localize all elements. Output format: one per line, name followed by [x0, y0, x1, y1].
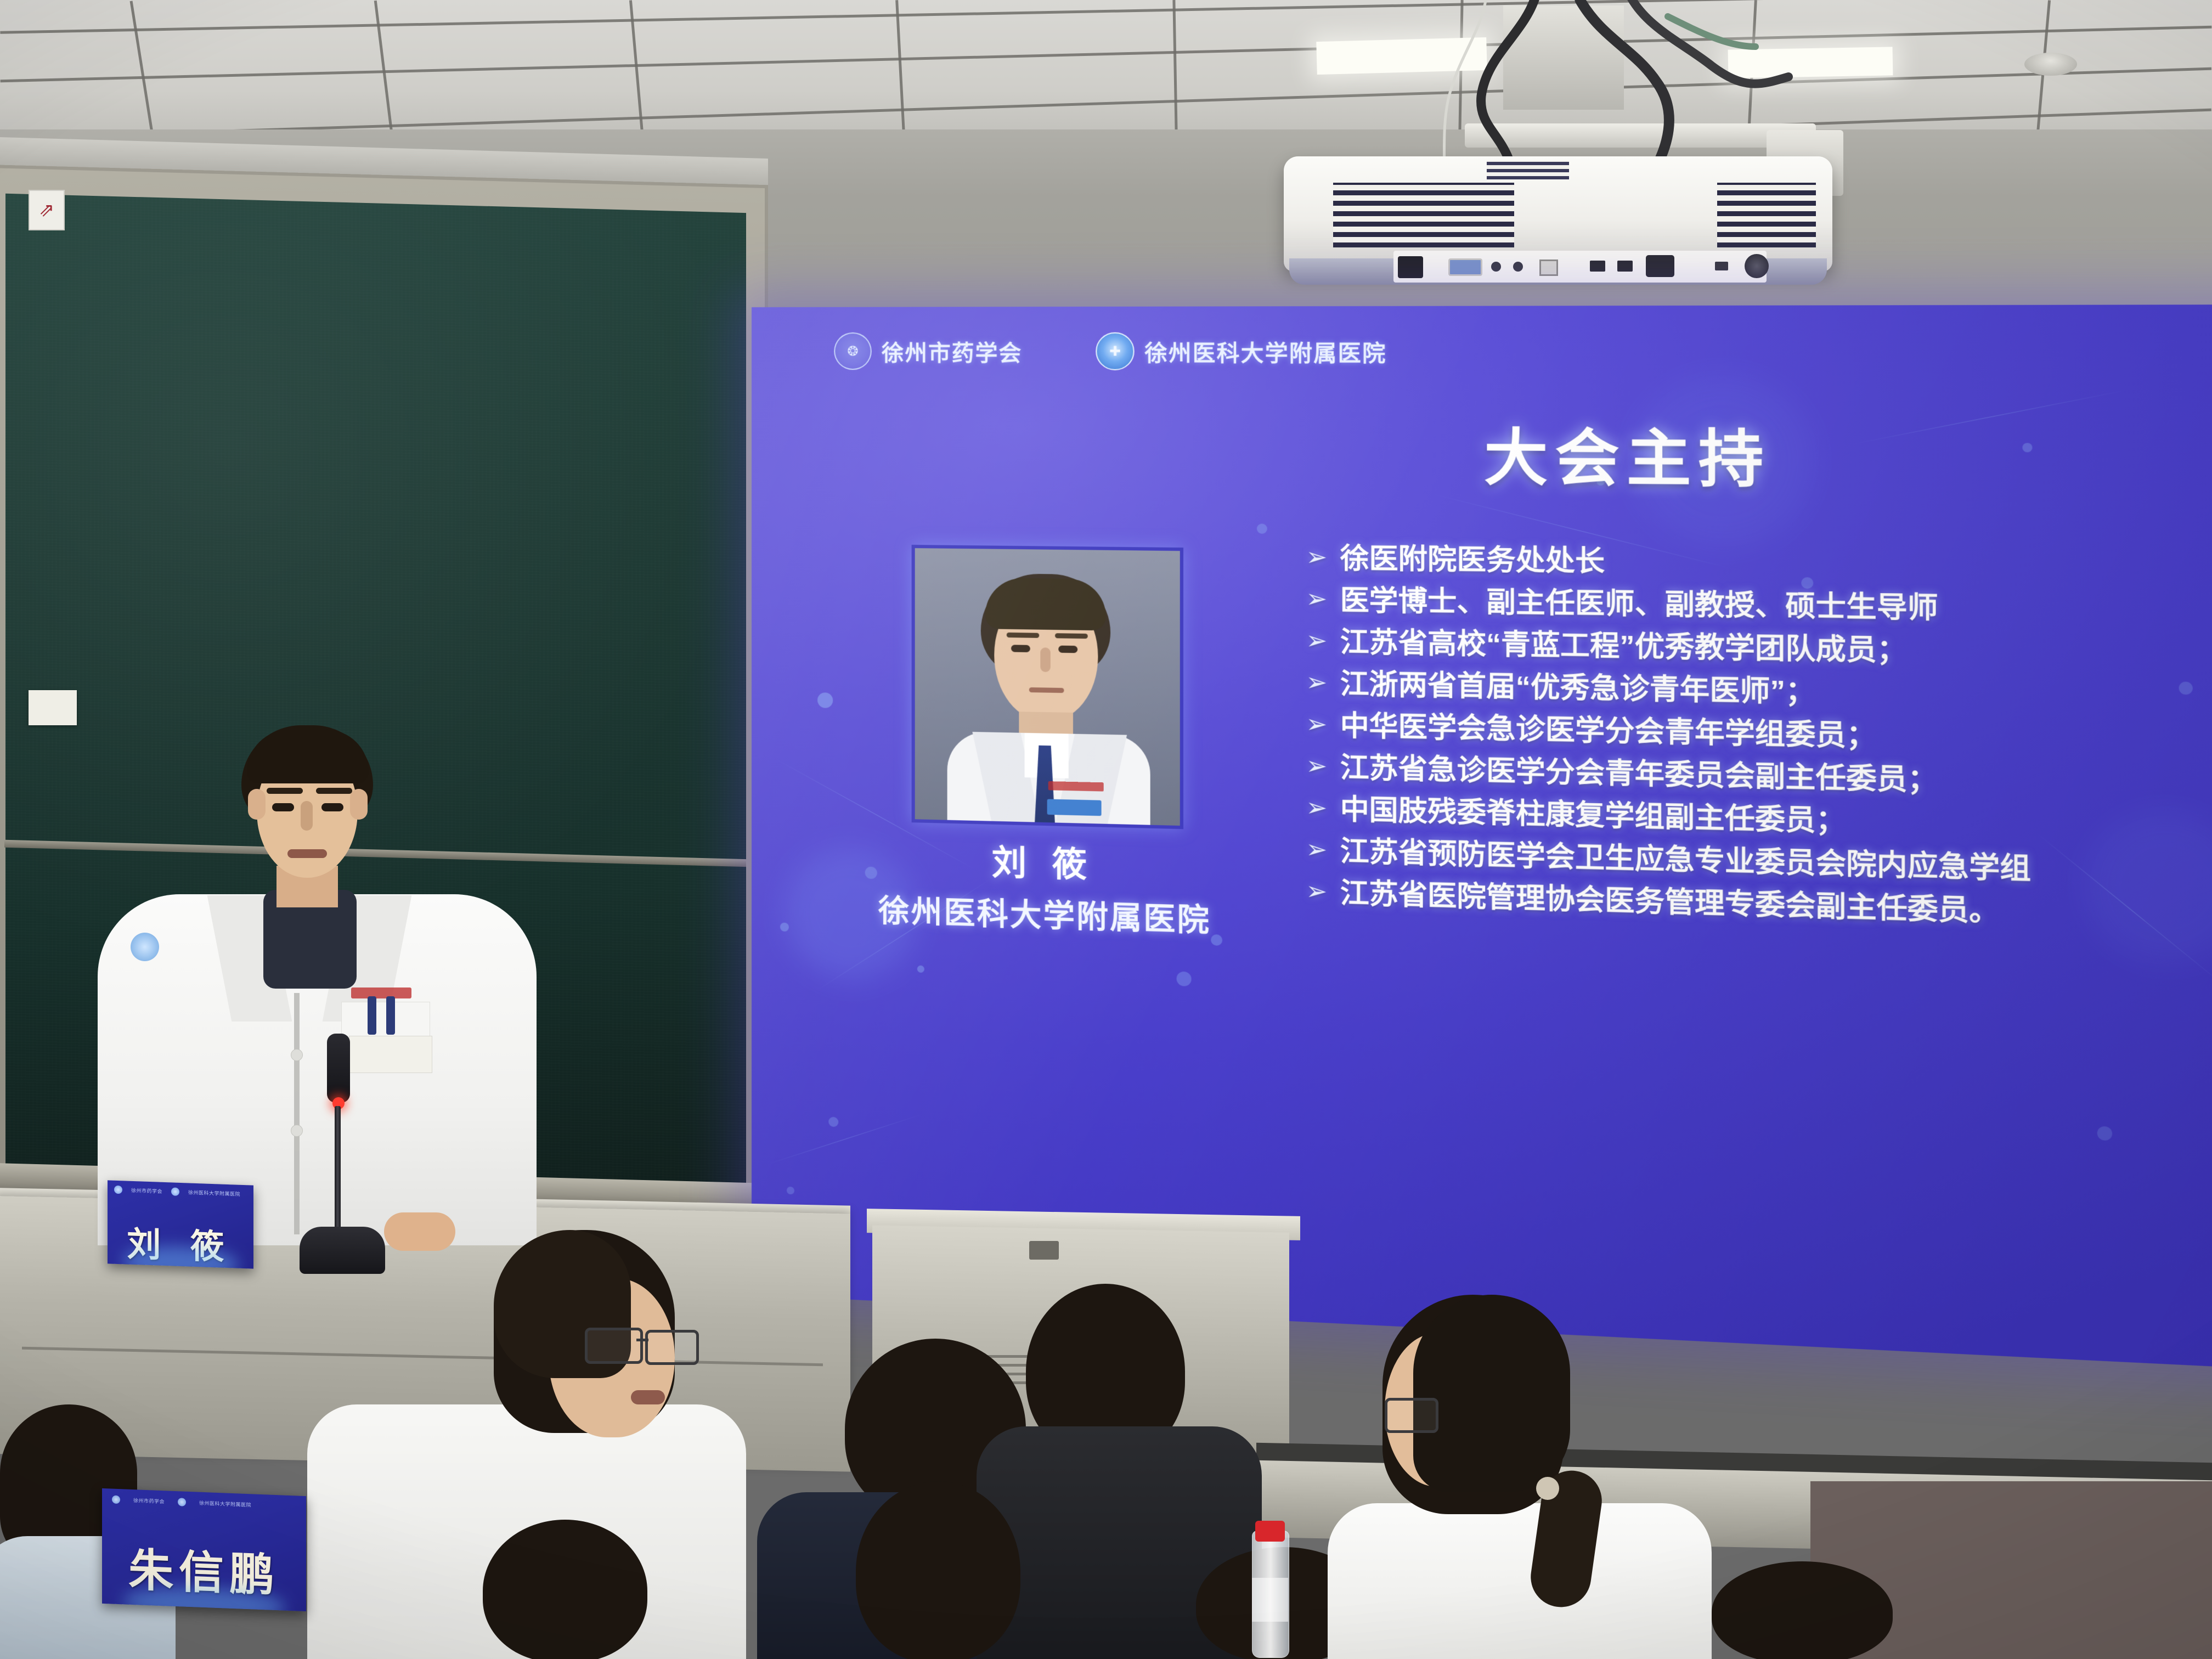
projector-hdmi-port-b	[1617, 261, 1633, 272]
eyeglasses-bridge	[636, 1339, 648, 1341]
microphone-base	[300, 1227, 385, 1274]
list-item-label: 医学博士、副主任医师、副教授、硕士生导师	[1340, 585, 1938, 623]
eyeglasses-icon	[585, 1328, 643, 1364]
coat-embroidered-text	[351, 988, 411, 998]
hospital-seal-logo-icon: ✚	[1096, 332, 1134, 370]
hospital-seal-logo-icon	[171, 1187, 179, 1196]
presenter-mouth	[287, 849, 327, 858]
hospital-logo-text: 徐州医科大学附属医院	[1144, 335, 1386, 368]
chevron-right-icon: ➢	[1306, 752, 1327, 781]
audience-head	[1712, 1561, 1893, 1659]
eyeglasses-icon	[645, 1330, 699, 1365]
chevron-right-icon: ➢	[1306, 836, 1327, 865]
coat-shoulder-emblem-icon	[131, 933, 159, 961]
pocket-pen	[386, 996, 395, 1035]
society-logo-text: 徐州市药学会	[882, 335, 1023, 368]
nameplate-logo-text: 徐州医科大学附属医院	[199, 1499, 251, 1509]
list-item-label: 江苏省高校“青蓝工程”优秀教学团队成员；	[1340, 627, 1908, 665]
presenter-eye-right	[321, 803, 343, 811]
slide-title: 大会主持	[1484, 408, 1771, 499]
smoke-detector-icon	[2024, 53, 2077, 76]
nameplate-logos: 徐州市药学会 徐州医科大学附属医院	[112, 1496, 251, 1509]
society-seal-logo-icon: ❂	[834, 332, 872, 370]
projector-vent-left	[1333, 183, 1514, 247]
coat-button	[291, 1049, 303, 1061]
projector-lens-housing	[1745, 254, 1769, 278]
chevron-right-icon: ➢	[1306, 543, 1327, 572]
exit-arrow-icon: ⇗	[39, 201, 55, 219]
list-item-label: 中华医学会急诊医学分会青年学组委员；	[1340, 711, 1877, 751]
nameplate-attendee: 徐州市药学会 徐州医科大学附属医院 朱信鹏	[102, 1488, 306, 1611]
nameplate-logos: 徐州市药学会 徐州医科大学附属医院	[114, 1186, 240, 1198]
list-item: ➢医学博士、副主任医师、副教授、硕士生导师	[1306, 585, 2212, 628]
chevron-right-icon: ➢	[1306, 794, 1327, 823]
presenter-id-badge	[349, 1036, 432, 1073]
projector-audio-port-b	[1513, 262, 1523, 272]
nameplate-logo-text: 徐州医科大学附属医院	[188, 1188, 240, 1197]
list-item: ➢江浙两省首届“优秀急诊青年医师”；	[1306, 669, 2212, 716]
audience-hair-overlay	[1413, 1295, 1570, 1492]
presenter-hand	[384, 1212, 455, 1251]
notice-paper	[29, 690, 77, 725]
presenter-ear-right	[350, 789, 368, 820]
audience-mouth	[631, 1390, 665, 1404]
projector-audio-port-a	[1491, 262, 1501, 272]
chevron-right-icon: ➢	[1306, 585, 1327, 614]
nameplate-presenter: 徐州市药学会 徐州医科大学附属医院 刘 筱	[108, 1180, 253, 1268]
slide-header-logos: ❂ 徐州市药学会 ✚ 徐州医科大学附属医院	[834, 332, 1386, 370]
chevron-right-icon: ➢	[1306, 877, 1327, 906]
hospital-seal-logo-icon	[178, 1498, 186, 1506]
projector-lan-port	[1539, 259, 1558, 276]
pocket-pen	[368, 996, 376, 1035]
microphone-gooseneck	[335, 1106, 341, 1238]
presenter-ear-left	[248, 789, 266, 820]
host-portrait-frame	[912, 545, 1183, 829]
host-name-caption: 刘 筱	[917, 833, 1171, 890]
projector-vent-top	[1487, 161, 1569, 179]
presenter-brow-right	[316, 788, 352, 794]
projector-vent-right	[1717, 183, 1816, 247]
presenter-brow-left	[267, 788, 303, 794]
projector-usb-port	[1715, 262, 1728, 270]
logo-unit-hospital: ✚ 徐州医科大学附属医院	[1096, 332, 1386, 370]
hair-tie-icon	[1536, 1477, 1559, 1500]
exit-sign: ⇗	[29, 190, 65, 230]
list-item-label: 江苏省预防医学会卫生应急专业委员会院内应急学组	[1340, 836, 2031, 884]
chevron-right-icon: ➢	[1306, 710, 1327, 740]
microphone-head	[327, 1034, 350, 1103]
nameplate-logo-text: 徐州市药学会	[133, 1497, 165, 1505]
society-seal-logo-icon	[112, 1496, 120, 1504]
list-item: ➢中华医学会急诊医学分会青年学组委员；	[1306, 710, 2212, 760]
chevron-right-icon: ➢	[1306, 669, 1327, 698]
nameplate-logo-text: 徐州市药学会	[131, 1187, 162, 1195]
projector-power-socket	[1646, 255, 1674, 277]
lecture-hall-photo: ⇗	[0, 0, 2212, 1659]
projector-hdmi-port-a	[1590, 261, 1605, 272]
chevron-right-icon: ➢	[1306, 627, 1327, 656]
audience-body	[1328, 1503, 1712, 1659]
host-portrait-photo	[915, 548, 1180, 826]
list-item-label: 江苏省急诊医学分会青年委员会副主任委员；	[1340, 753, 1938, 795]
bottle-cap	[1255, 1521, 1285, 1542]
logo-unit-society: ❂ 徐州市药学会	[834, 332, 1022, 370]
society-seal-logo-icon	[114, 1186, 122, 1194]
eyeglasses-icon	[1385, 1398, 1438, 1433]
list-item-label: 江浙两省首届“优秀急诊青年医师”；	[1340, 669, 1816, 707]
presenter-nose	[301, 801, 313, 831]
audience-head	[483, 1520, 647, 1659]
audience-head	[856, 1481, 1020, 1659]
console-panel-button[interactable]	[1029, 1241, 1059, 1260]
projector-vga-port	[1448, 258, 1482, 276]
list-item-label: 徐医附院医务处处长	[1340, 544, 1605, 576]
host-credentials-list: ➢徐医附院医务处处长 ➢医学博士、副主任医师、副教授、硕士生导师 ➢江苏省高校“…	[1306, 543, 2212, 949]
presenter-hair-front	[247, 730, 369, 783]
bottle-label	[1252, 1578, 1288, 1622]
projector-ir-sensor	[1398, 256, 1423, 278]
list-item-label: 江苏省医院管理协会医务管理专委会副主任委员。	[1340, 878, 2000, 927]
coat-placket	[294, 993, 300, 1234]
list-item-label: 中国肢残委脊柱康复学组副主任委员；	[1340, 794, 1847, 836]
list-item: ➢江苏省高校“青蓝工程”优秀教学团队成员；	[1306, 627, 2212, 672]
ceiling-projector	[1284, 101, 1832, 266]
coat-button	[291, 1125, 303, 1137]
presenter-eye-left	[272, 803, 294, 811]
